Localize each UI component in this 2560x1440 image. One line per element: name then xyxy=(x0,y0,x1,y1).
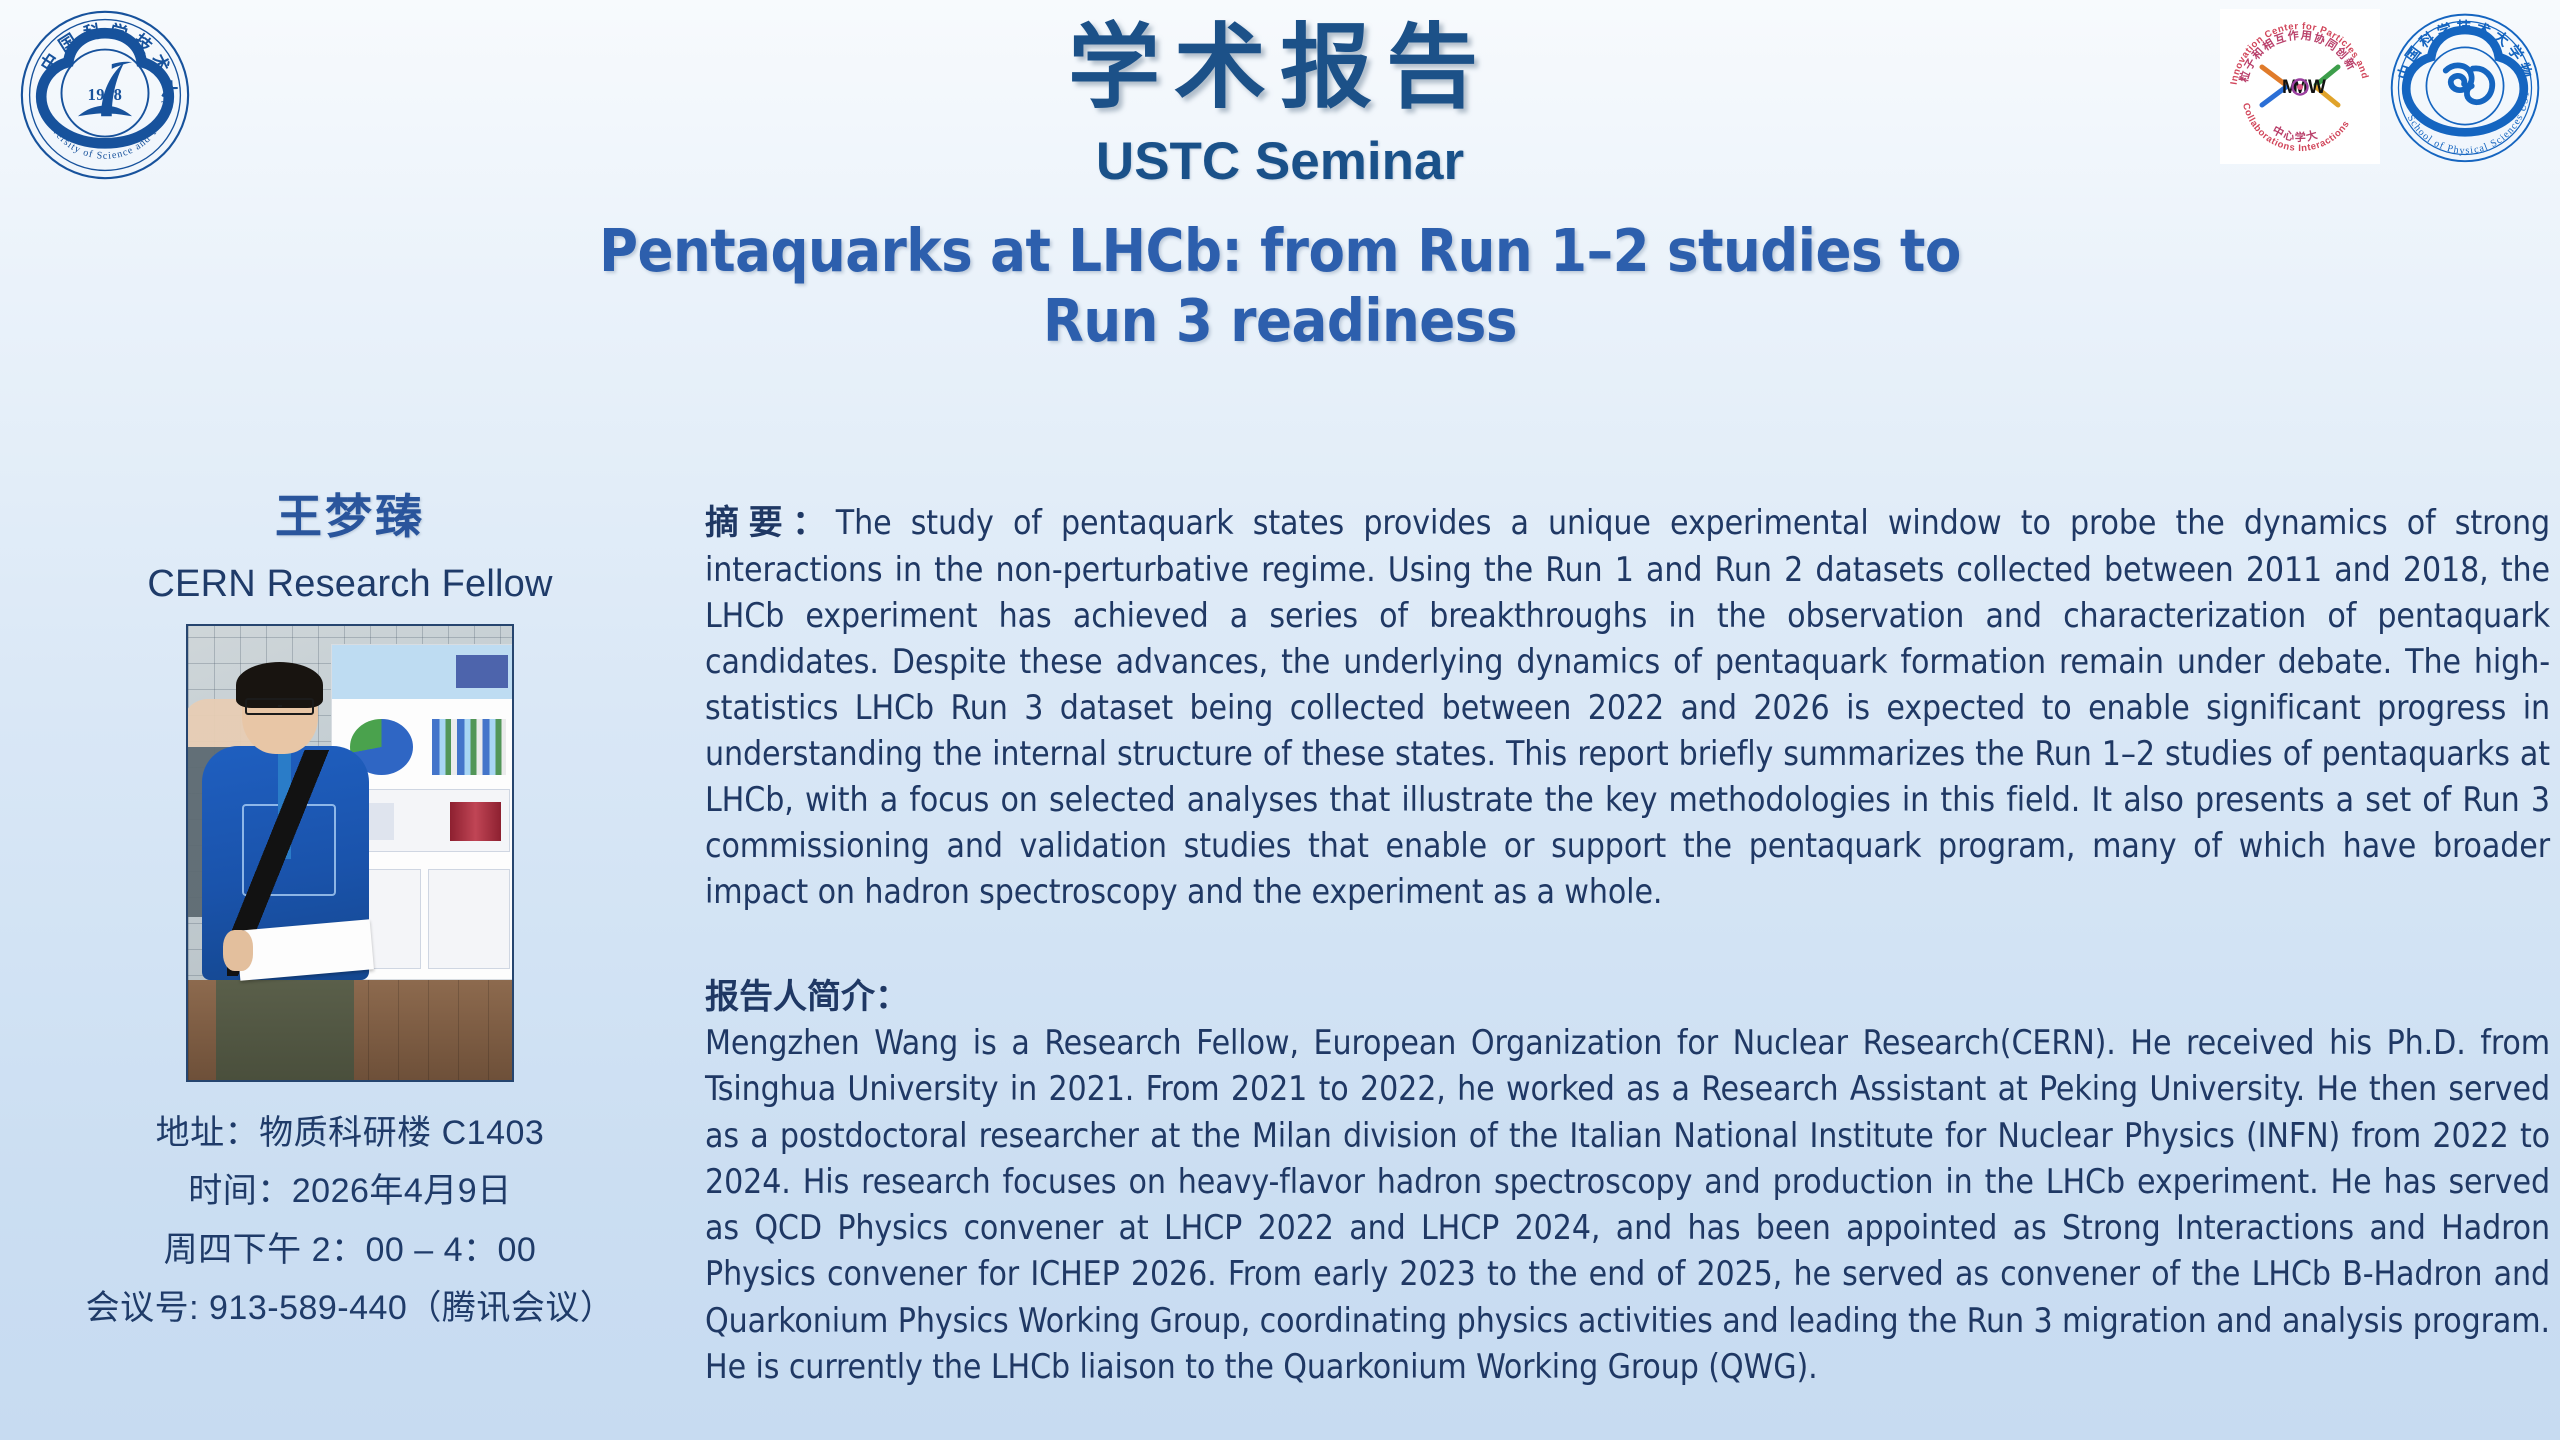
speaker-photo xyxy=(186,624,514,1082)
seminar-label: USTC Seminar xyxy=(0,131,2560,192)
abstract-label: 摘要： xyxy=(705,504,836,542)
speaker-panel: 王梦臻 CERN Research Fellow 地址：物质科 xyxy=(20,478,680,1338)
page-title-cn: 学术报告 xyxy=(0,10,2560,125)
speaker-name: 王梦臻 xyxy=(20,478,680,547)
speaker-affiliation: CERN Research Fellow xyxy=(20,563,680,606)
bio-text: Mengzhen Wang is a Research Fellow, Euro… xyxy=(705,1020,2550,1390)
abstract-text: The study of pentaquark states provides … xyxy=(705,503,2550,911)
logistics-address: 地址：物质科研楼 C1403 xyxy=(20,1104,680,1162)
logistics-meeting-id: 会议号: 913-589-440（腾讯会议） xyxy=(20,1279,680,1337)
logistics-time: 周四下午 2：00 – 4：00 xyxy=(20,1221,680,1279)
logistics-block: 地址：物质科研楼 C1403 时间：2026年4月9日 周四下午 2：00 – … xyxy=(20,1104,680,1338)
abstract-paragraph: 摘要：The study of pentaquark states provid… xyxy=(705,500,2550,915)
talk-title-line-2: Run 3 readiness xyxy=(365,286,2195,356)
bio-label: 报告人简介： xyxy=(705,969,2550,1018)
talk-title-line-1: Pentaquarks at LHCb: from Run 1–2 studie… xyxy=(365,216,2195,286)
talk-title: Pentaquarks at LHCb: from Run 1–2 studie… xyxy=(365,216,2195,355)
logistics-date: 时间：2026年4月9日 xyxy=(20,1162,680,1220)
content-panel: 摘要：The study of pentaquark states provid… xyxy=(705,500,2550,1390)
poster-header: 学术报告 USTC Seminar Pentaquarks at LHCb: f… xyxy=(0,0,2560,355)
